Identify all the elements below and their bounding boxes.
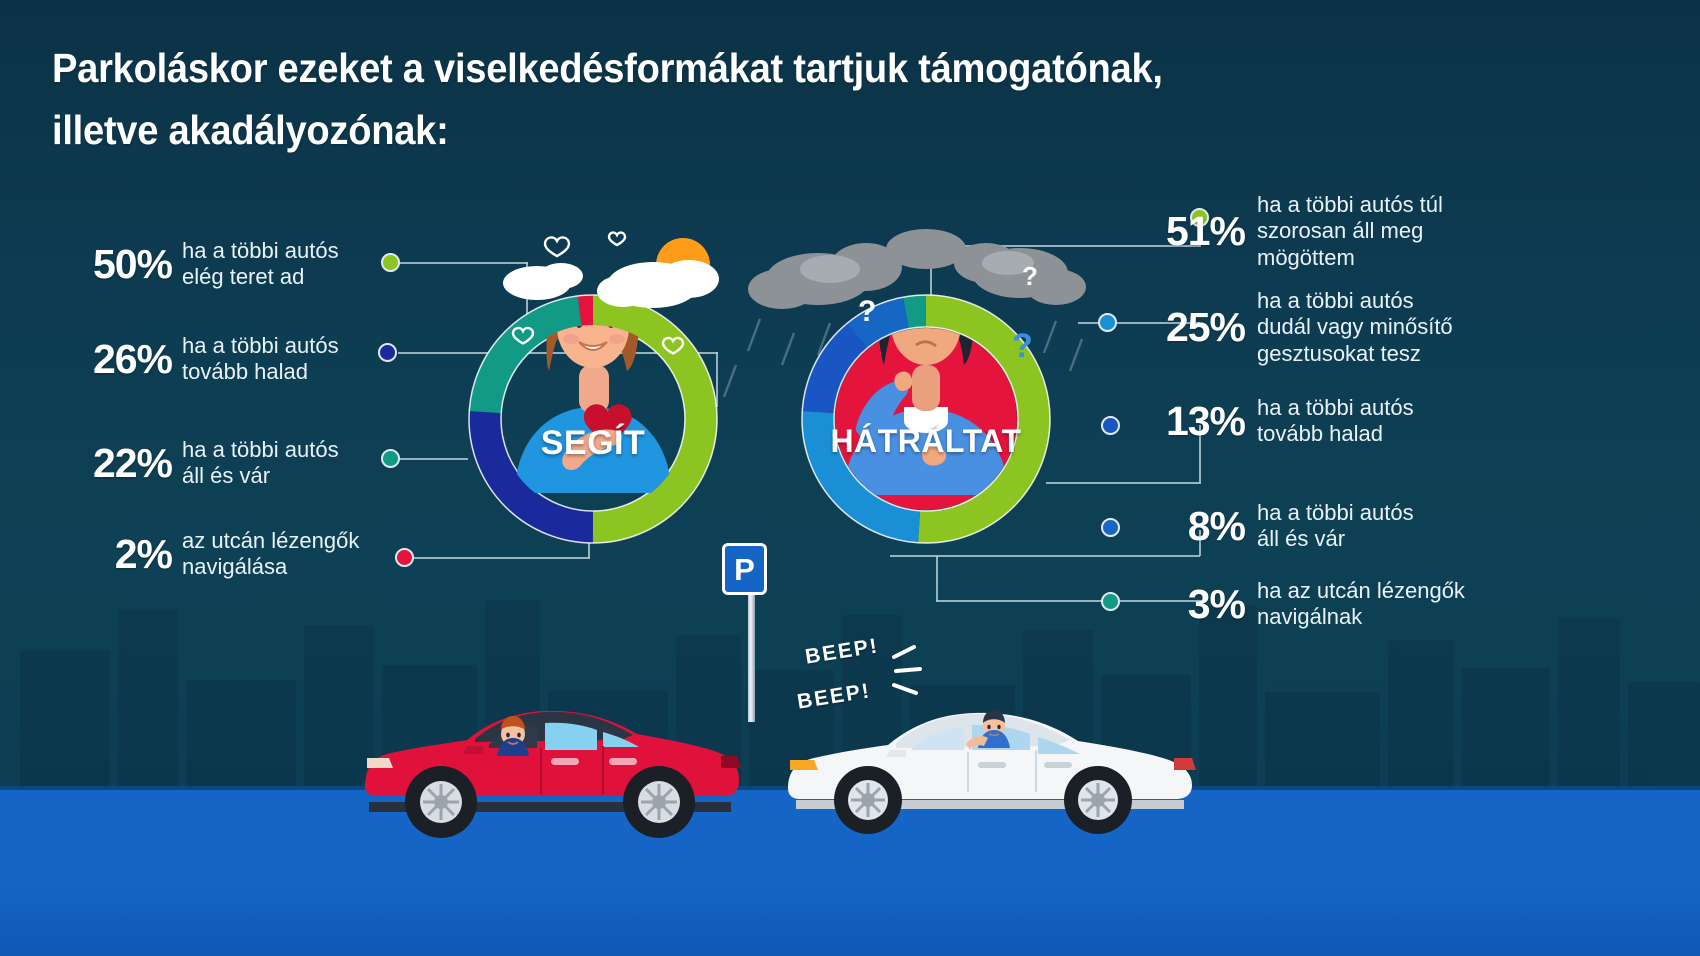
woman-face [891,285,961,365]
donut-label-segit: SEGÍT [541,424,646,463]
parking-sign-pole [748,590,755,722]
white-car [780,672,1200,842]
stat-desc: ha a többi autós tovább halad [182,333,339,386]
door-handle [609,758,637,765]
stat-pct: 3% [1140,584,1245,625]
red-suv [355,660,745,840]
leader-line-right-5-v [936,556,938,601]
taillight [721,756,741,768]
stat-pct: 2% [62,534,172,575]
stat-row-right-2: 25% ha a többi autós dudál vagy minősítő… [1140,288,1453,367]
stat-row-right-1: 51% ha a többi autós túl szorosan áll me… [1140,192,1443,271]
suv-rear-wheel [623,766,695,838]
stat-row-right-4: 8% ha a többi autós áll és vár [1140,500,1414,553]
dot-left-3 [381,449,400,468]
donut-chart-hatraltat: ? ? ? [790,283,1062,555]
dot-left-4 [395,548,414,567]
stat-row-right-5: 3% ha az utcán lézengők navigálnak [1140,578,1465,631]
donut-label-hatraltat: HÁTRÁLTAT [830,423,1021,460]
stat-desc: ha a többi autós dudál vagy minősítő ges… [1257,288,1453,367]
stat-row-left-3: 22% ha a többi autós áll és vár [62,437,339,490]
dot-right-4 [1101,518,1120,537]
leader-line-left-4 [412,557,590,559]
headlight [367,758,393,768]
stat-row-left-1: 50% ha a többi autós elég teret ad [62,238,339,291]
suv-front-wheel [405,766,477,838]
stat-row-right-3: 13% ha a többi autós tovább halad [1140,395,1414,448]
headlight [790,760,818,770]
stat-pct: 22% [62,443,172,484]
question-mark-icon: ? [1012,327,1033,365]
door-handle [551,758,579,765]
stat-desc: ha a többi autós áll és vár [1257,500,1414,553]
stat-desc: ha a többi autós tovább halad [1257,395,1414,448]
question-mark-icon: ? [858,295,876,328]
stat-pct: 25% [1140,307,1245,348]
cloud-icon [503,260,719,308]
woman-hand [894,372,912,391]
dot-left-2 [378,343,397,362]
stat-desc: ha a többi autós elég teret ad [182,238,339,291]
donut-chart-segit: SEGÍT [457,283,729,555]
stat-pct: 13% [1140,401,1245,442]
parking-sign: P [722,543,767,595]
stat-row-left-4: 2% az utcán lézengők navigálása [62,528,359,581]
stat-pct: 26% [62,339,172,380]
stat-desc: ha a többi autós túl szorosan áll meg mö… [1257,192,1443,271]
taillight [1174,758,1196,770]
stat-row-left-2: 26% ha a többi autós tovább halad [62,333,339,386]
car-front-wheel [834,766,902,834]
stat-desc: ha az utcán lézengők navigálnak [1257,578,1465,631]
stat-pct: 51% [1140,211,1245,252]
stat-desc: az utcán lézengők navigálása [182,528,359,581]
door-handle [1044,762,1072,768]
headline-line-1: Parkoláskor ezeket a viselkedésformákat … [52,38,1224,100]
stat-pct: 50% [62,244,172,285]
dot-left-1 [381,253,400,272]
page-title: Parkoláskor ezeket a viselkedésformákat … [52,38,1224,161]
dot-right-5 [1101,592,1120,611]
infographic-canvas: Parkoláskor ezeket a viselkedésformákat … [0,0,1700,956]
stat-desc: ha a többi autós áll és vár [182,437,339,490]
headline-line-2: illetve akadályozónak: [52,100,1224,162]
door-handle [978,762,1006,768]
stat-pct: 8% [1140,506,1245,547]
question-mark-icon: ? [1022,261,1038,291]
car-rear-wheel [1064,766,1132,834]
